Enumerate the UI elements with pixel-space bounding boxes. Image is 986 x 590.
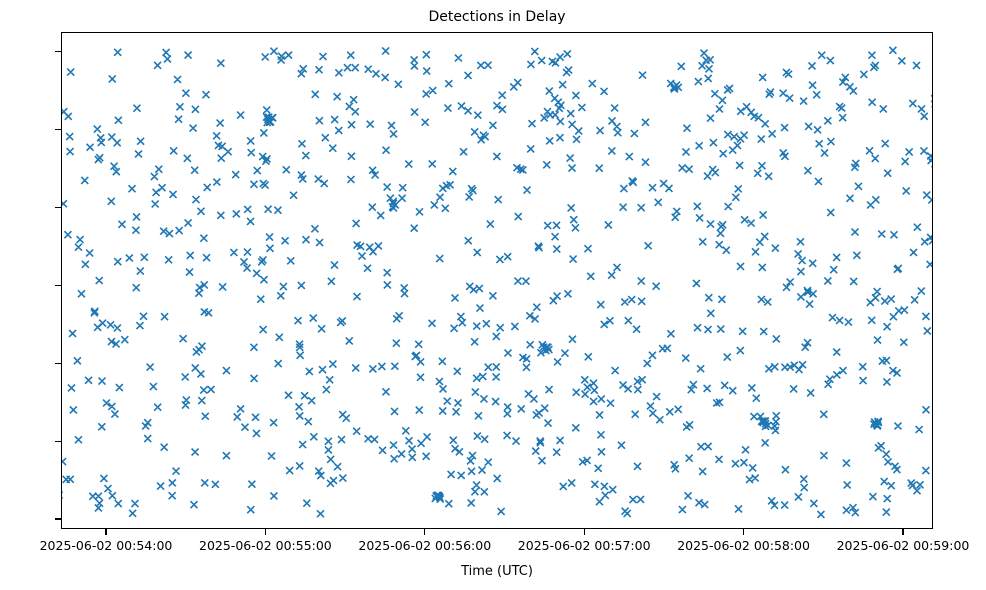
x-tick-label: 2025-06-02 00:59:00 [793,538,986,553]
x-tick-mark [105,529,106,535]
x-tick-mark [902,529,903,535]
x-tick-mark [265,529,266,535]
scatter-marker-path [62,47,932,518]
page-title: Detections in Delay [61,8,933,26]
plot-area [61,32,933,529]
x-tick-mark [584,529,585,535]
matplotlib-figure: Detections in Delay Bistatic Delay (km) … [0,0,986,590]
x-tick-mark [743,529,744,535]
x-axis-label: Time (UTC) [61,564,933,580]
scatter-series [62,33,932,528]
scatter-points [62,47,932,518]
x-tick-mark [424,529,425,535]
